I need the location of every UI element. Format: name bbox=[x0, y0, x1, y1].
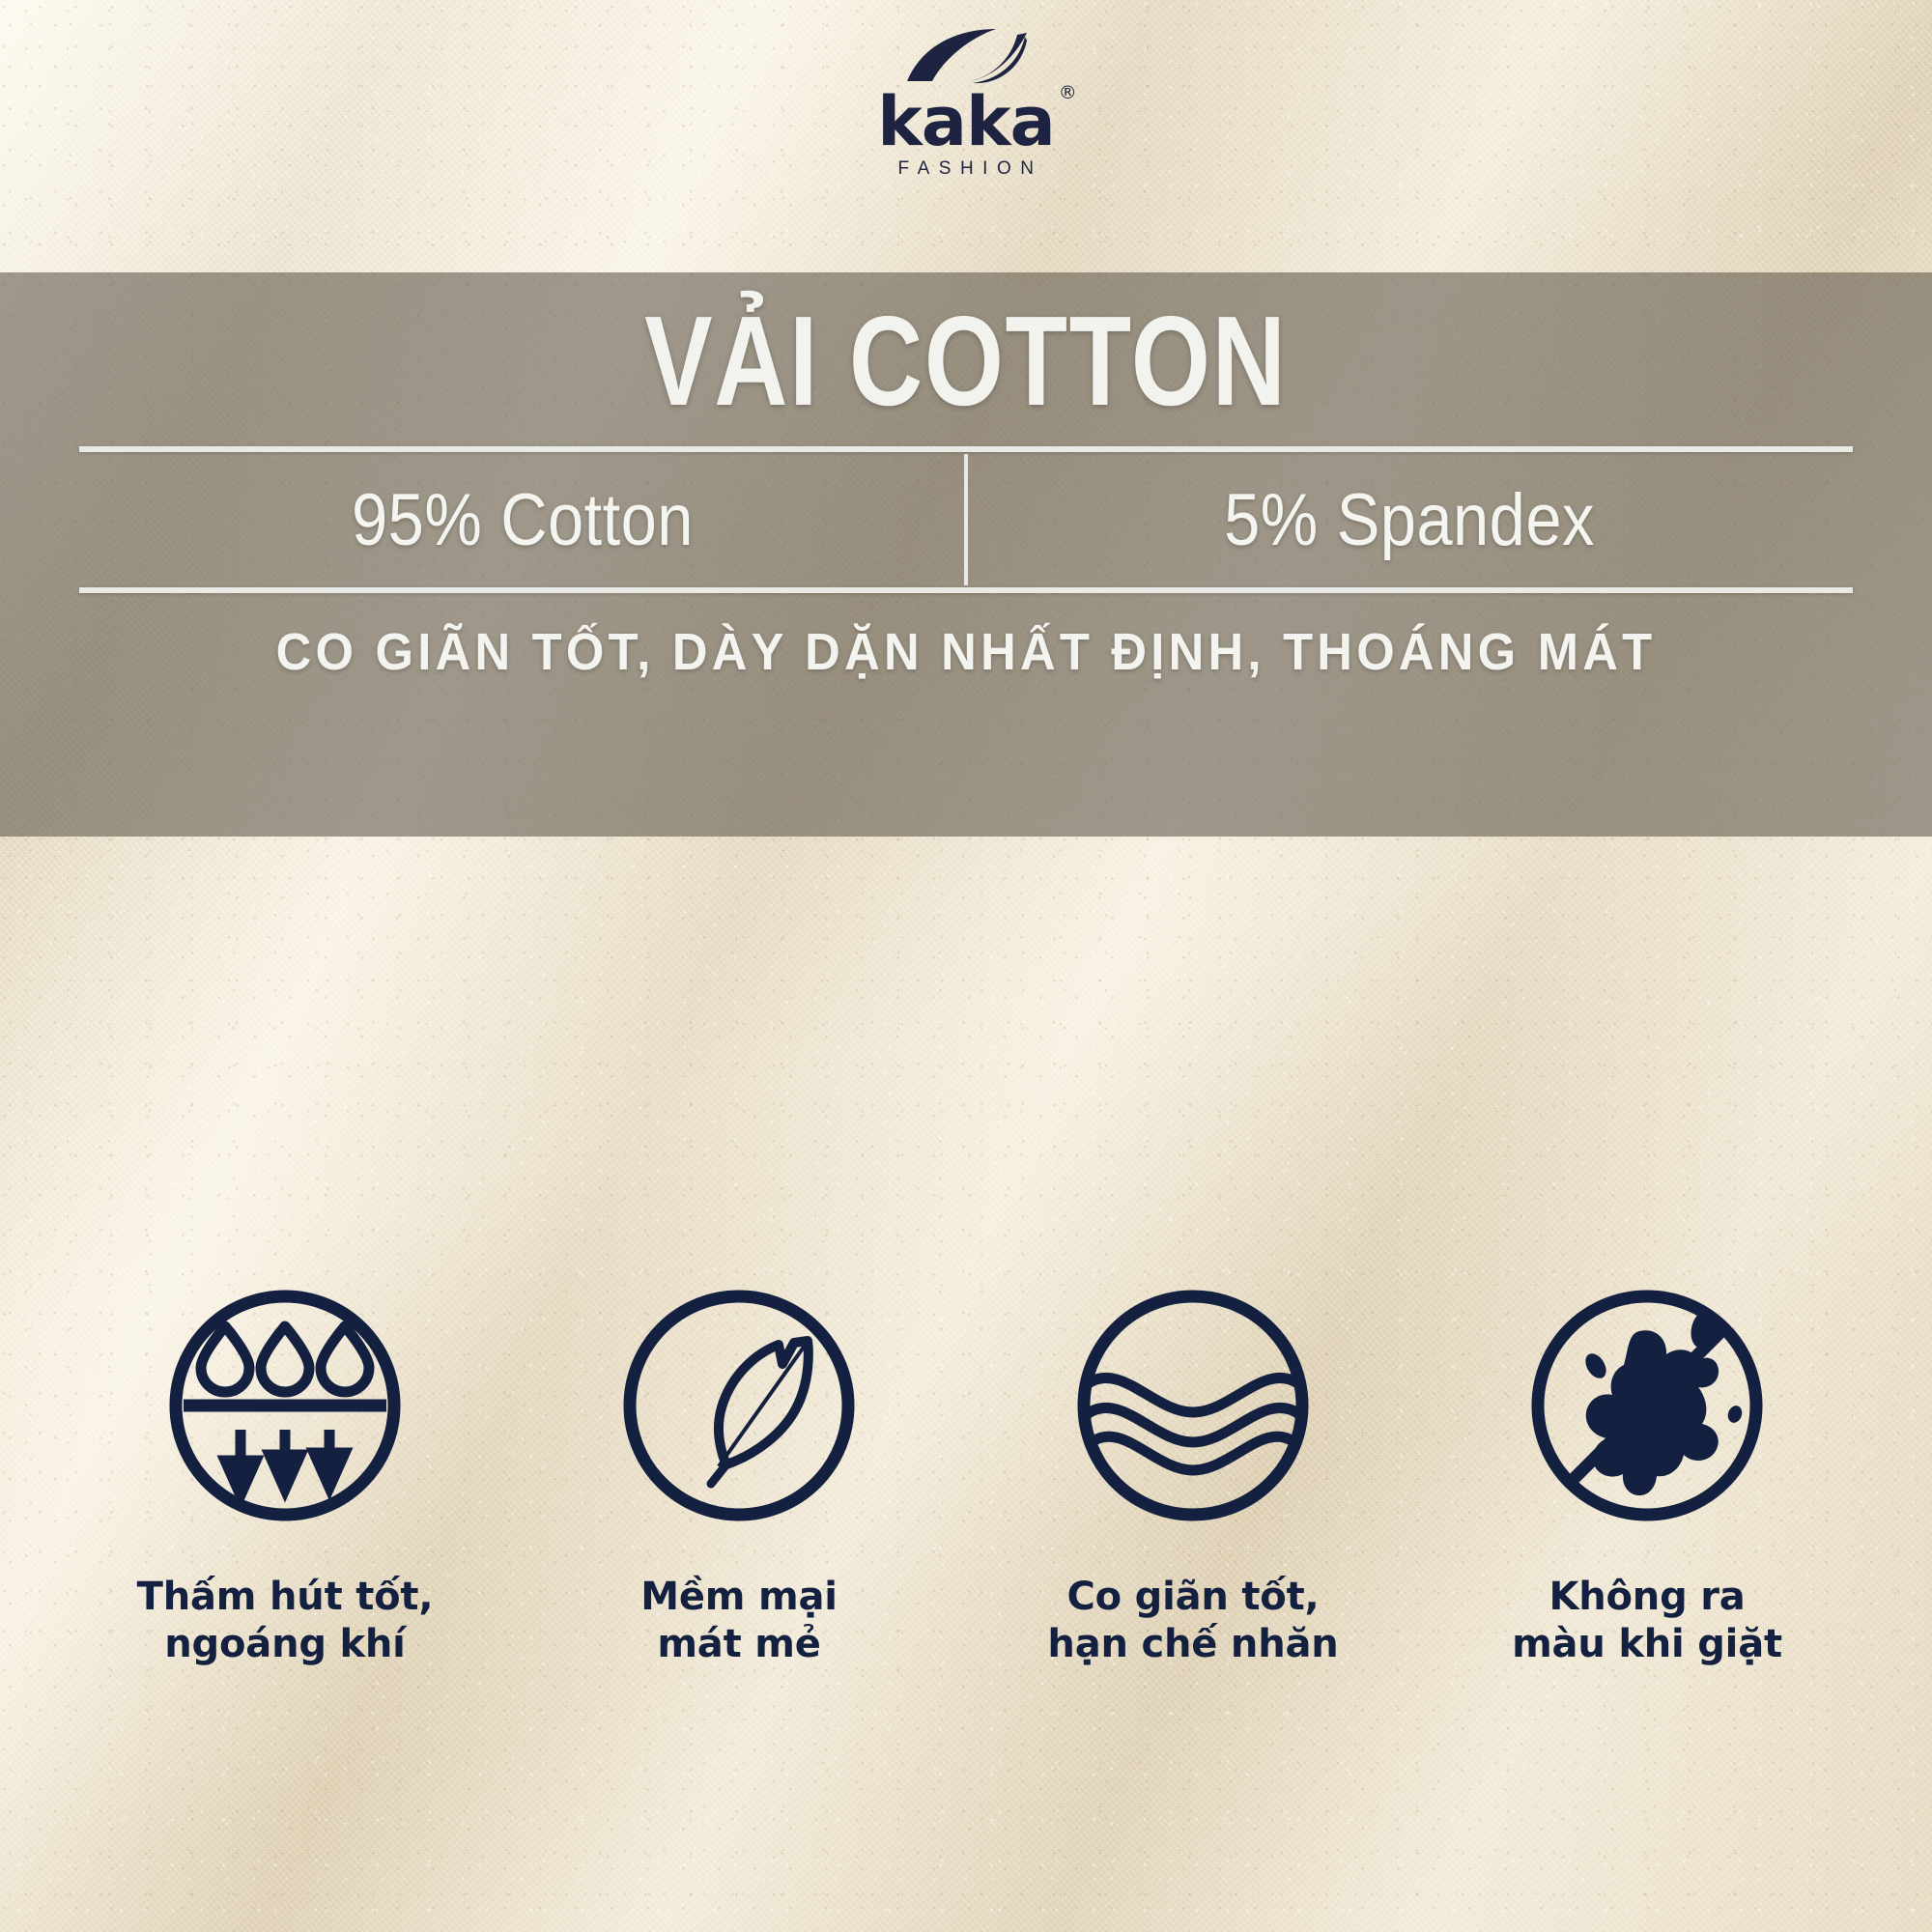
page-title: VẢI COTTON bbox=[644, 298, 1287, 425]
feature-label: Co giãn tốt, hạn chế nhăn bbox=[1047, 1574, 1338, 1668]
leaf-feather-softness-icon bbox=[618, 1285, 860, 1531]
brand-logo: kaka ® FASHION bbox=[0, 27, 1932, 180]
brand-name: kaka ® bbox=[877, 90, 1055, 155]
info-band: VẢI COTTON 95% Cotton 5% Spandex CO GIÃN… bbox=[0, 272, 1932, 837]
feature-label: Không ra màu khi giặt bbox=[1512, 1574, 1782, 1668]
feature-item: Không ra màu khi giặt bbox=[1420, 1285, 1874, 1668]
feature-label: Thấm hút tốt, ngoáng khí bbox=[137, 1574, 434, 1668]
brand-name-text: kaka bbox=[877, 82, 1055, 161]
feature-label: Mềm mại mát mẻ bbox=[640, 1574, 838, 1668]
feature-item: Mềm mại mát mẻ bbox=[512, 1285, 966, 1668]
composition-vertical-divider bbox=[964, 454, 968, 585]
fabric-info-poster: kaka ® FASHION VẢI COTTON 95% Cotton 5% … bbox=[0, 0, 1932, 1932]
composition-spandex: 5% Spandex bbox=[1019, 478, 1800, 562]
water-droplets-absorption-icon bbox=[164, 1285, 406, 1531]
band-tagline: CO GIÃN TỐT, DÀY DẶN NHẤT ĐỊNH, THOÁNG M… bbox=[276, 622, 1657, 682]
feature-list: Thấm hút tốt, ngoáng khí Mềm mại mát mẻ bbox=[0, 1285, 1932, 1668]
no-stain-bleed-icon bbox=[1526, 1285, 1768, 1531]
composition-cotton: 95% Cotton bbox=[132, 478, 913, 562]
feature-item: Co giãn tốt, hạn chế nhăn bbox=[966, 1285, 1420, 1668]
divider-bottom bbox=[79, 587, 1853, 593]
composition-row: 95% Cotton 5% Spandex bbox=[79, 452, 1853, 587]
feature-item: Thấm hút tốt, ngoáng khí bbox=[58, 1285, 512, 1668]
registered-trademark-icon: ® bbox=[1059, 84, 1076, 101]
wavy-lines-stretch-icon bbox=[1072, 1285, 1314, 1531]
